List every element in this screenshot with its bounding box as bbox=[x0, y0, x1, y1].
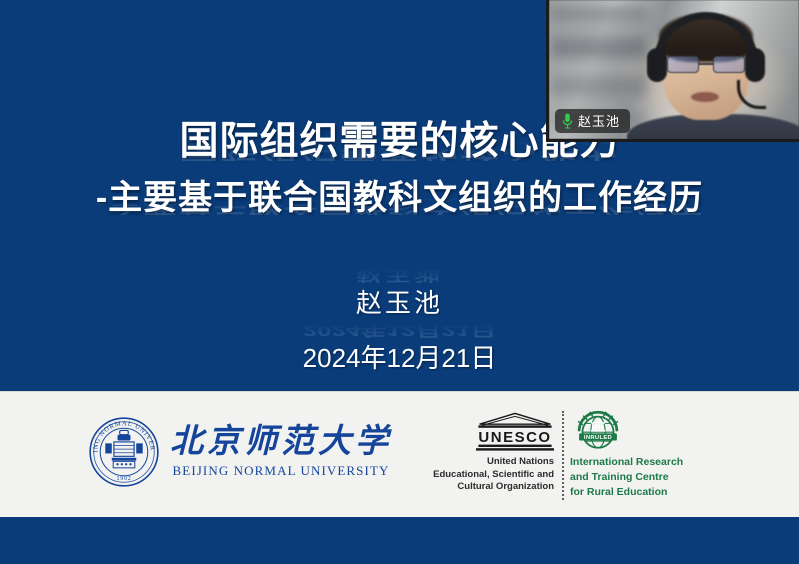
presentation-date: 2024年12月21日 2024年12月21日 bbox=[0, 338, 799, 375]
presentation-date-reflection: 2024年12月21日 bbox=[0, 324, 799, 338]
unesco-caption-line3: Cultural Organization bbox=[427, 481, 554, 494]
unesco-temple-icon: UNESCO bbox=[476, 412, 554, 452]
slide-title-sub-text: -主要基于联合国教科文组织的工作经历 bbox=[96, 179, 703, 217]
presenter-area: 赵玉池 赵玉池 2024年12月21日 2024年12月21日 bbox=[0, 283, 799, 375]
inruled-caption-line3: for Rural Education bbox=[570, 485, 730, 500]
participant-video-tile[interactable]: 赵玉池 bbox=[546, 0, 799, 142]
headset-band bbox=[653, 12, 759, 68]
svg-text:1902: 1902 bbox=[116, 476, 131, 482]
headset-mic-arm bbox=[737, 80, 766, 109]
presenter-name-text: 赵玉池 bbox=[356, 288, 443, 318]
unesco-caption-line2: Educational, Scientific and bbox=[427, 469, 554, 482]
bnu-name-cn: 北京师范大学 bbox=[170, 425, 392, 460]
participant-name-label: 赵玉池 bbox=[578, 115, 620, 128]
participant-name-badge: 赵玉池 bbox=[555, 109, 630, 133]
unesco-caption: United Nations Educational, Scientific a… bbox=[427, 456, 554, 494]
presenter-name-reflection: 赵玉池 bbox=[0, 269, 799, 283]
logo-band: BEIJING NORMAL UNIVERSITY 1902 bbox=[0, 391, 799, 519]
unesco-caption-line1: United Nations bbox=[427, 456, 554, 469]
presentation-slide: 国际组织需要的核心能力 国际组织需要的核心能力 -主要基于联合国教科文组织的工作… bbox=[0, 0, 799, 564]
logo-inruled: INRULED International Research and Train… bbox=[570, 410, 730, 500]
unesco-wordmark-text: UNESCO bbox=[478, 429, 551, 446]
bnu-name-en: BEIJING NORMAL UNIVERSITY bbox=[173, 463, 390, 479]
bnu-wordmark: 北京师范大学 BEIJING NORMAL UNIVERSITY bbox=[170, 425, 392, 479]
inruled-globe-icon: INRULED bbox=[570, 410, 626, 450]
bnu-seal-icon: BEIJING NORMAL UNIVERSITY 1902 bbox=[88, 416, 160, 488]
inruled-caption: International Research and Training Cent… bbox=[570, 455, 730, 500]
microphone-icon bbox=[562, 113, 573, 129]
presenter-name: 赵玉池 赵玉池 bbox=[0, 283, 799, 320]
logo-divider bbox=[562, 411, 564, 500]
inruled-caption-line1: International Research bbox=[570, 455, 730, 470]
inruled-caption-line2: and Training Centre bbox=[570, 470, 730, 485]
logo-unesco: UNESCO United Nations Educational, Scien… bbox=[427, 412, 554, 494]
logo-beijing-normal-university: BEIJING NORMAL UNIVERSITY 1902 bbox=[88, 416, 392, 488]
slide-title-sub: -主要基于联合国教科文组织的工作经历 -主要基于联合国教科文组织的工作经历 bbox=[0, 181, 799, 215]
inruled-wordmark-text: INRULED bbox=[584, 435, 612, 441]
video-participant-figure bbox=[633, 18, 799, 142]
headset-earcup-left bbox=[647, 48, 667, 82]
headset-earcup-right bbox=[745, 48, 765, 82]
presentation-date-text: 2024年12月21日 bbox=[303, 343, 497, 373]
bottom-blue-strip bbox=[0, 517, 799, 564]
participant-mouth bbox=[691, 92, 719, 102]
